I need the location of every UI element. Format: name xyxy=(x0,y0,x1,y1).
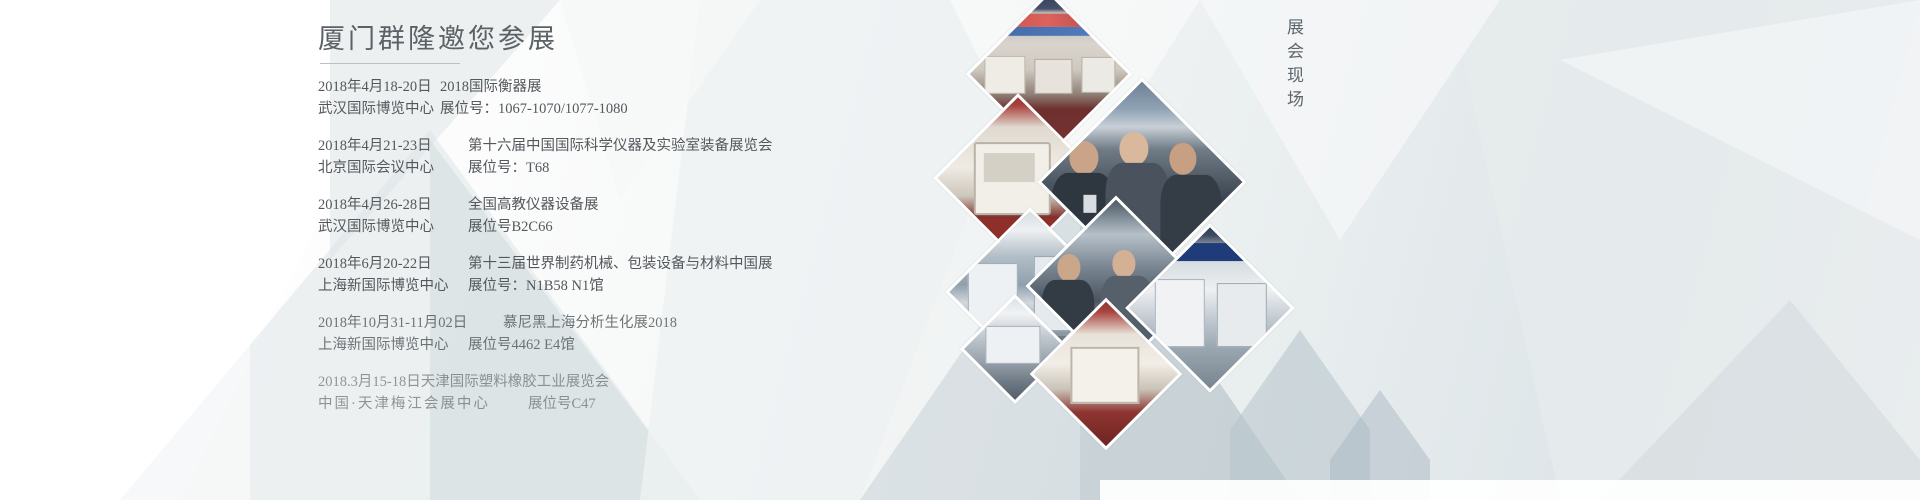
event-venue: 武汉国际博览中心 xyxy=(318,98,440,120)
event-item: 2018年4月18-20日 2018国际衡器展 武汉国际博览中心 展位号：106… xyxy=(318,76,958,120)
event-name: 慕尼黑上海分析生化展2018 xyxy=(503,312,677,334)
event-row-bottom: 武汉国际博览中心 展位号B2C66 xyxy=(318,216,958,238)
event-booth: 展位号：1067-1070/1077-1080 xyxy=(440,98,628,120)
event-booth: 展位号B2C66 xyxy=(468,216,553,238)
event-row-top: 2018年4月18-20日 2018国际衡器展 xyxy=(318,76,958,98)
event-venue: 上海新国际博览中心 xyxy=(318,275,468,297)
title-underline xyxy=(320,63,460,64)
event-name: 第十三届世界制药机械、包装设备与材料中国展 xyxy=(468,253,773,275)
event-date: 2018.3月15-18日天津国际塑料橡胶工业展览会 xyxy=(318,374,609,390)
event-item: 2018年10月31-11月02日 慕尼黑上海分析生化展2018 上海新国际博览… xyxy=(318,312,958,356)
event-item: 2018.3月15-18日天津国际塑料橡胶工业展览会 中国·天津梅江会展中心 展… xyxy=(318,371,958,415)
event-row-bottom: 上海新国际博览中心 展位号：N1B58 N1馆 xyxy=(318,275,958,297)
background-gradient xyxy=(0,0,1920,500)
event-row-bottom: 上海新国际博览中心 展位号4462 E4馆 xyxy=(318,334,958,356)
event-date: 2018年10月31-11月02日 xyxy=(318,312,503,334)
event-booth: 展位号C47 xyxy=(528,393,596,415)
event-name: 全国高教仪器设备展 xyxy=(468,194,599,216)
event-row-top: 2018年4月26-28日 全国高教仪器设备展 xyxy=(318,194,958,216)
event-date: 2018年4月18-20日 xyxy=(318,76,440,98)
event-venue: 北京国际会议中心 xyxy=(318,157,468,179)
event-row-bottom: 武汉国际博览中心 展位号：1067-1070/1077-1080 xyxy=(318,98,958,120)
event-row-top: 2018年4月21-23日 第十六届中国国际科学仪器及实验室装备展览会 xyxy=(318,135,958,157)
event-row-top: 2018年6月20-22日 第十三届世界制药机械、包装设备与材料中国展 xyxy=(318,253,958,275)
event-row-bottom: 中国·天津梅江会展中心 展位号C47 xyxy=(318,393,958,415)
event-item: 2018年4月21-23日 第十六届中国国际科学仪器及实验室装备展览会 北京国际… xyxy=(318,135,958,179)
event-date: 2018年4月26-28日 xyxy=(318,194,468,216)
event-venue: 上海新国际博览中心 xyxy=(318,334,468,356)
page-title: 厦门群隆邀您参展 xyxy=(318,22,958,57)
event-venue: 武汉国际博览中心 xyxy=(318,216,468,238)
event-name: 2018国际衡器展 xyxy=(440,76,542,98)
event-row-top: 2018年10月31-11月02日 慕尼黑上海分析生化展2018 xyxy=(318,312,958,334)
event-booth: 展位号：T68 xyxy=(468,157,549,179)
exhibition-banner: 厦门群隆邀您参展 2018年4月18-20日 2018国际衡器展 武汉国际博览中… xyxy=(0,0,1920,500)
event-date: 2018年4月21-23日 xyxy=(318,135,468,157)
event-item: 2018年4月26-28日 全国高教仪器设备展 武汉国际博览中心 展位号B2C6… xyxy=(318,194,958,238)
event-venue: 中国·天津梅江会展中心 xyxy=(318,393,528,415)
vertical-section-title: 展会现场 xyxy=(1276,18,1306,114)
event-row-top: 2018.3月15-18日天津国际塑料橡胶工业展览会 xyxy=(318,371,958,393)
event-booth: 展位号4462 E4馆 xyxy=(468,334,575,356)
photo-collage xyxy=(1030,0,1460,500)
event-booth: 展位号：N1B58 N1馆 xyxy=(468,275,604,297)
event-row-bottom: 北京国际会议中心 展位号：T68 xyxy=(318,157,958,179)
event-list-panel: 厦门群隆邀您参展 2018年4月18-20日 2018国际衡器展 武汉国际博览中… xyxy=(318,22,958,430)
event-name: 第十六届中国国际科学仪器及实验室装备展览会 xyxy=(468,135,773,157)
event-item: 2018年6月20-22日 第十三届世界制药机械、包装设备与材料中国展 上海新国… xyxy=(318,253,958,297)
event-date: 2018年6月20-22日 xyxy=(318,253,468,275)
